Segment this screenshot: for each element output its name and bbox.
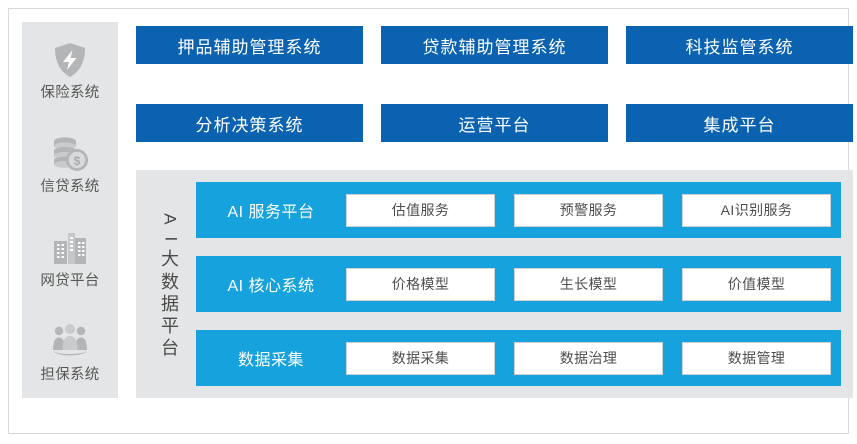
top-system-analysis-decision[interactable]: 分析决策系统 xyxy=(136,104,363,142)
platform-row-label: 数据采集 xyxy=(196,346,346,370)
vertical-title-char: 数 xyxy=(161,272,179,292)
top-system-label: 科技监管系统 xyxy=(686,33,794,58)
platform-vertical-title: A I 大 数 据 平 台 xyxy=(148,180,192,388)
buildings-icon xyxy=(47,225,93,271)
sidebar-item-online-loan[interactable]: 网贷平台 xyxy=(22,210,118,304)
vertical-title-char: 据 xyxy=(161,294,179,314)
sidebar-item-credit[interactable]: $ 信贷系统 xyxy=(22,116,118,210)
sidebar-item-insurance[interactable]: 保险系统 xyxy=(22,22,118,116)
sidebar: 保险系统 $ 信贷系统 xyxy=(22,22,118,398)
top-system-label: 运营平台 xyxy=(459,111,531,136)
platform-cell[interactable]: 数据管理 xyxy=(682,342,831,375)
top-system-tech-supervision[interactable]: 科技监管系统 xyxy=(626,26,853,64)
platform-cell[interactable]: 价格模型 xyxy=(346,268,495,301)
sidebar-item-guarantee[interactable]: 担保系统 xyxy=(22,304,118,398)
top-system-label: 贷款辅助管理系统 xyxy=(423,33,567,58)
vertical-title-char: 平 xyxy=(161,316,179,336)
vertical-title-char: I xyxy=(161,236,179,241)
top-system-pledge-aux-mgmt[interactable]: 押品辅助管理系统 xyxy=(136,26,363,64)
coins-dollar-icon: $ xyxy=(47,131,93,177)
platform-row-cells: 价格模型 生长模型 价值模型 xyxy=(346,268,841,301)
platform-row-cells: 估值服务 预警服务 AI识别服务 xyxy=(346,194,841,227)
people-group-icon xyxy=(47,319,93,365)
platform-row-cells: 数据采集 数据治理 数据管理 xyxy=(346,342,841,375)
platform-cell[interactable]: 估值服务 xyxy=(346,194,495,227)
top-system-label: 集成平台 xyxy=(704,111,776,136)
shield-bolt-icon xyxy=(47,37,93,83)
top-system-operations-platform[interactable]: 运营平台 xyxy=(381,104,608,142)
platform-row-label: AI 服务平台 xyxy=(196,198,346,222)
platform-cell[interactable]: AI识别服务 xyxy=(682,194,831,227)
platform-cell[interactable]: 数据采集 xyxy=(346,342,495,375)
ai-bigdata-platform-panel: A I 大 数 据 平 台 AI 服务平台 估值服务 预警服务 AI识别服务 A… xyxy=(136,170,853,398)
platform-cell[interactable]: 数据治理 xyxy=(514,342,663,375)
top-system-label: 分析决策系统 xyxy=(196,111,304,136)
platform-cell[interactable]: 价值模型 xyxy=(682,268,831,301)
vertical-title-char: A xyxy=(161,213,179,224)
sidebar-item-label: 信贷系统 xyxy=(40,180,99,195)
vertical-title-char: 台 xyxy=(161,338,179,358)
platform-cell[interactable]: 生长模型 xyxy=(514,268,663,301)
diagram-canvas: 保险系统 $ 信贷系统 xyxy=(0,0,857,444)
top-system-loan-aux-mgmt[interactable]: 贷款辅助管理系统 xyxy=(381,26,608,64)
platform-row-data-collection: 数据采集 数据采集 数据治理 数据管理 xyxy=(196,330,841,386)
platform-cell[interactable]: 预警服务 xyxy=(514,194,663,227)
svg-text:$: $ xyxy=(74,154,81,168)
sidebar-item-label: 网贷平台 xyxy=(40,274,99,289)
sidebar-item-label: 担保系统 xyxy=(40,368,99,383)
platform-row-ai-core: AI 核心系统 价格模型 生长模型 价值模型 xyxy=(196,256,841,312)
vertical-title-char: 大 xyxy=(161,249,179,269)
top-system-integration-platform[interactable]: 集成平台 xyxy=(626,104,853,142)
platform-row-ai-service: AI 服务平台 估值服务 预警服务 AI识别服务 xyxy=(196,182,841,238)
sidebar-item-label: 保险系统 xyxy=(40,86,99,101)
platform-row-label: AI 核心系统 xyxy=(196,272,346,296)
top-system-label: 押品辅助管理系统 xyxy=(178,33,322,58)
